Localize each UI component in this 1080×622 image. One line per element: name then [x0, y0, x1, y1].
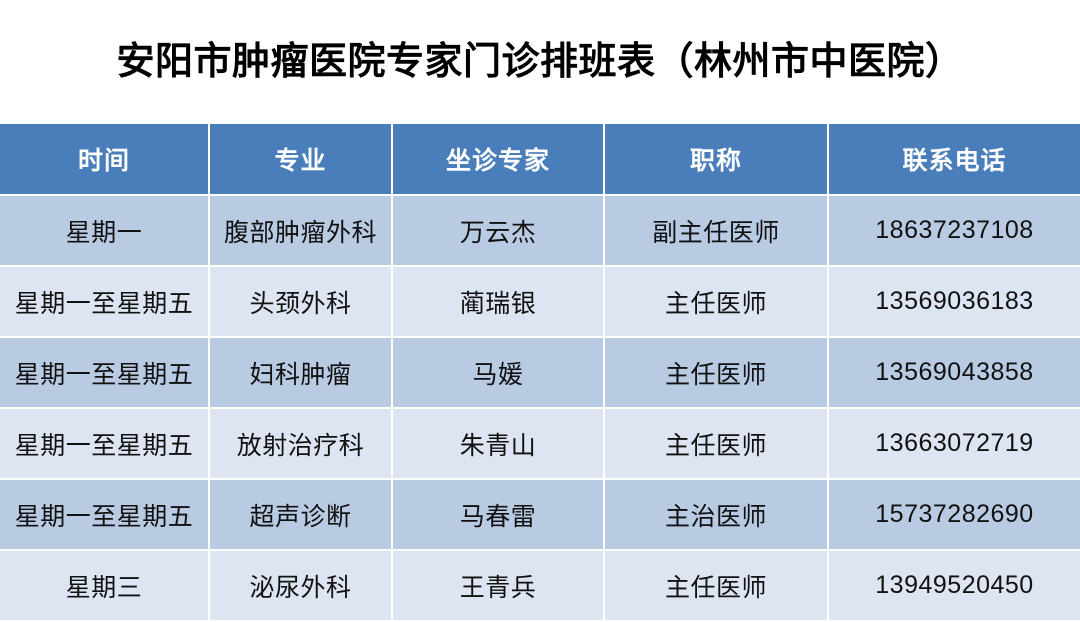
schedule-page: 安阳市肿瘤医院专家门诊排班表（林州市中医院） 时间 专业 坐诊专家 职称 联系电… [0, 0, 1080, 608]
table-row: 星期一 腹部肿瘤外科 万云杰 副主任医师 18637237108 [0, 195, 1080, 266]
cell-specialty: 头颈外科 [209, 266, 392, 337]
table-row: 星期一至星期五 超声诊断 马春雷 主治医师 15737282690 [0, 479, 1080, 550]
cell-time: 星期一至星期五 [0, 479, 209, 550]
cell-phone: 13569036183 [828, 266, 1080, 337]
column-header-doctor: 坐诊专家 [392, 124, 604, 195]
cell-doctor: 蔺瑞银 [392, 266, 604, 337]
cell-doctor: 万云杰 [392, 195, 604, 266]
table-header-row: 时间 专业 坐诊专家 职称 联系电话 [0, 124, 1080, 195]
cell-specialty: 泌尿外科 [209, 550, 392, 621]
cell-rank: 主任医师 [604, 266, 828, 337]
cell-time: 星期一至星期五 [0, 408, 209, 479]
cell-specialty: 腹部肿瘤外科 [209, 195, 392, 266]
table-row: 星期三 泌尿外科 王青兵 主任医师 13949520450 [0, 550, 1080, 621]
cell-rank: 主任医师 [604, 337, 828, 408]
cell-phone: 15737282690 [828, 479, 1080, 550]
cell-time: 星期一 [0, 195, 209, 266]
cell-specialty: 放射治疗科 [209, 408, 392, 479]
cell-doctor: 马媛 [392, 337, 604, 408]
cell-time: 星期三 [0, 550, 209, 621]
cell-phone: 13663072719 [828, 408, 1080, 479]
cell-phone: 13569043858 [828, 337, 1080, 408]
column-header-time: 时间 [0, 124, 209, 195]
cell-rank: 主任医师 [604, 408, 828, 479]
cell-rank: 主治医师 [604, 479, 828, 550]
table-row: 星期一至星期五 头颈外科 蔺瑞银 主任医师 13569036183 [0, 266, 1080, 337]
column-header-rank: 职称 [604, 124, 828, 195]
cell-specialty: 妇科肿瘤 [209, 337, 392, 408]
column-header-phone: 联系电话 [828, 124, 1080, 195]
cell-rank: 副主任医师 [604, 195, 828, 266]
cell-rank: 主任医师 [604, 550, 828, 621]
cell-doctor: 马春雷 [392, 479, 604, 550]
cell-specialty: 超声诊断 [209, 479, 392, 550]
cell-phone: 13949520450 [828, 550, 1080, 621]
cell-doctor: 朱青山 [392, 408, 604, 479]
cell-time: 星期一至星期五 [0, 337, 209, 408]
table-row: 星期一至星期五 妇科肿瘤 马媛 主任医师 13569043858 [0, 337, 1080, 408]
title-bar: 安阳市肿瘤医院专家门诊排班表（林州市中医院） [0, 0, 1080, 124]
column-header-specialty: 专业 [209, 124, 392, 195]
page-title: 安阳市肿瘤医院专家门诊排班表（林州市中医院） [116, 43, 963, 81]
cell-time: 星期一至星期五 [0, 266, 209, 337]
cell-phone: 18637237108 [828, 195, 1080, 266]
cell-doctor: 王青兵 [392, 550, 604, 621]
table-row: 星期一至星期五 放射治疗科 朱青山 主任医师 13663072719 [0, 408, 1080, 479]
table-header: 时间 专业 坐诊专家 职称 联系电话 [0, 124, 1080, 195]
expert-clinic-schedule-table: 时间 专业 坐诊专家 职称 联系电话 星期一 腹部肿瘤外科 万云杰 副主任医师 … [0, 124, 1080, 622]
table-body: 星期一 腹部肿瘤外科 万云杰 副主任医师 18637237108 星期一至星期五… [0, 195, 1080, 621]
